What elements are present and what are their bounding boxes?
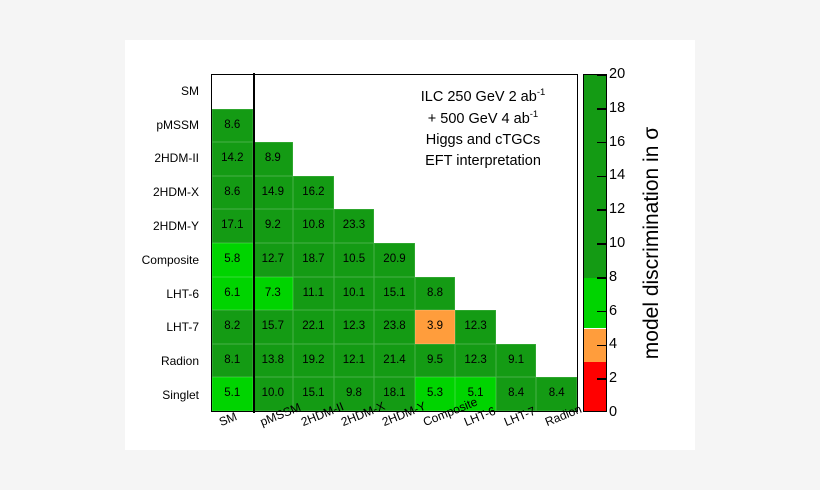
annotation-line-3: Higgs and cTGCs (383, 130, 583, 151)
colorbar-tick (597, 209, 606, 211)
heatmap-cell-empty (334, 109, 375, 143)
colorbar-tick-label: 0 (609, 404, 617, 420)
colorbar-tick-label: 2 (609, 370, 617, 386)
colorbar-tick (597, 311, 606, 313)
heatmap-cell-empty (455, 209, 496, 243)
sm-column-separator (253, 73, 256, 412)
heatmap-cell-empty (212, 75, 253, 109)
heatmap-cell: 21.4 (374, 344, 415, 378)
heatmap-cell: 8.6 (212, 176, 253, 210)
heatmap-cell-empty (496, 176, 537, 210)
figure-canvas: SMpMSSM2HDM-II2HDM-X2HDM-YCompositeLHT-6… (125, 40, 695, 450)
colorbar (583, 74, 607, 412)
heatmap-cell: 20.9 (374, 243, 415, 277)
colorbar-tick-label: 20 (609, 66, 625, 82)
heatmap-cell: 9.2 (253, 209, 294, 243)
colorbar-tick-label: 18 (609, 100, 625, 116)
colorbar-tick (597, 243, 606, 245)
heatmap-cell-empty (374, 176, 415, 210)
figure-root: SMpMSSM2HDM-II2HDM-X2HDM-YCompositeLHT-6… (0, 0, 820, 490)
heatmap-cell: 5.8 (212, 243, 253, 277)
heatmap-cell: 23.8 (374, 310, 415, 344)
heatmap-cell-empty (293, 142, 334, 176)
colorbar-tick (597, 378, 606, 380)
heatmap-cell: 19.2 (293, 344, 334, 378)
heatmap-cell: 5.1 (212, 377, 253, 411)
heatmap-cell-empty (536, 209, 577, 243)
y-axis-label-lht-7: LHT-7 (125, 311, 205, 345)
heatmap-cell-empty (415, 209, 456, 243)
y-axis-label-lht-6: LHT-6 (125, 277, 205, 311)
y-axis-label-radion: Radion (125, 344, 205, 378)
heatmap-cell: 18.7 (293, 243, 334, 277)
heatmap-cell: 12.1 (334, 344, 375, 378)
annotation-line-4: EFT interpretation (383, 151, 583, 172)
colorbar-title: model discrimination in σ (638, 74, 666, 412)
heatmap-cell-empty (293, 75, 334, 109)
heatmap-cell: 9.1 (496, 344, 537, 378)
heatmap-cell-empty (415, 243, 456, 277)
heatmap-cell-empty (334, 176, 375, 210)
colorbar-segment (584, 278, 606, 329)
y-axis-label-2hdm-y: 2HDM-Y (125, 209, 205, 243)
heatmap-cell: 9.5 (415, 344, 456, 378)
colorbar-tick (597, 142, 606, 144)
heatmap-cell-empty (496, 310, 537, 344)
heatmap-cell-empty (496, 243, 537, 277)
heatmap-cell-empty (496, 209, 537, 243)
heatmap-cell-empty (253, 75, 294, 109)
heatmap-cell: 16.2 (293, 176, 334, 210)
heatmap-cell: 8.6 (212, 109, 253, 143)
heatmap-cell-empty (334, 75, 375, 109)
annotation-block: ILC 250 GeV 2 ab-1 + 500 GeV 4 ab-1 Higg… (383, 86, 583, 172)
heatmap-cell-empty (496, 277, 537, 311)
colorbar-tick (597, 176, 606, 178)
heatmap-cell: 8.9 (253, 142, 294, 176)
y-axis-label-singlet: Singlet (125, 378, 205, 412)
colorbar-tick-label: 4 (609, 336, 617, 352)
heatmap-cell-empty (455, 176, 496, 210)
colorbar-tick-label: 12 (609, 201, 625, 217)
heatmap-cell-empty (455, 243, 496, 277)
colorbar-tick-label: 14 (609, 167, 625, 183)
heatmap-cell-empty (536, 310, 577, 344)
heatmap-cell-empty (536, 243, 577, 277)
colorbar-segment (584, 362, 606, 412)
colorbar-tick-label: 8 (609, 269, 617, 285)
y-axis-label-2hdm-x: 2HDM-X (125, 175, 205, 209)
heatmap-cell: 23.3 (334, 209, 375, 243)
heatmap-cell-empty (374, 209, 415, 243)
heatmap-cell: 10.8 (293, 209, 334, 243)
colorbar-tick (597, 108, 606, 110)
y-axis-label-2hdm-ii: 2HDM-II (125, 142, 205, 176)
heatmap-cell: 8.2 (212, 310, 253, 344)
heatmap-cell: 15.1 (374, 277, 415, 311)
heatmap-cell: 10.1 (334, 277, 375, 311)
colorbar-tick-label: 16 (609, 134, 625, 150)
colorbar-tick-label: 10 (609, 235, 625, 251)
heatmap-cell-empty (536, 277, 577, 311)
y-axis-label-pmssm: pMSSM (125, 108, 205, 142)
y-axis-label-composite: Composite (125, 243, 205, 277)
heatmap-cell: 8.8 (415, 277, 456, 311)
heatmap-cell: 10.5 (334, 243, 375, 277)
heatmap-cell-empty (536, 344, 577, 378)
heatmap-cell: 15.7 (253, 310, 294, 344)
colorbar-tick-label: 6 (609, 303, 617, 319)
heatmap-cell-empty (253, 109, 294, 143)
heatmap-cell: 7.3 (253, 277, 294, 311)
heatmap-cell: 22.1 (293, 310, 334, 344)
x-axis-label-sm: SM (217, 409, 239, 429)
x-axis-labels: SMpMSSM2HDM-II2HDM-X2HDM-YCompositeLHT-6… (211, 412, 578, 472)
heatmap-cell-empty (293, 109, 334, 143)
heatmap-cell: 14.9 (253, 176, 294, 210)
heatmap-cell: 8.1 (212, 344, 253, 378)
heatmap-cell: 17.1 (212, 209, 253, 243)
annotation-line-1: ILC 250 GeV 2 ab-1 (383, 86, 583, 108)
heatmap-cell: 3.9 (415, 310, 456, 344)
y-axis-label-sm: SM (125, 74, 205, 108)
colorbar-tick (597, 345, 606, 347)
colorbar-tick (597, 74, 606, 76)
heatmap-cell: 13.8 (253, 344, 294, 378)
heatmap-cell-empty (334, 142, 375, 176)
heatmap-cell-empty (536, 176, 577, 210)
heatmap-cell: 12.3 (455, 344, 496, 378)
heatmap-cell: 12.3 (455, 310, 496, 344)
annotation-line-2: + 500 GeV 4 ab-1 (383, 108, 583, 130)
y-axis-labels: SMpMSSM2HDM-II2HDM-X2HDM-YCompositeLHT-6… (125, 74, 205, 412)
heatmap-cell: 12.7 (253, 243, 294, 277)
heatmap-cell: 14.2 (212, 142, 253, 176)
heatmap-cell: 12.3 (334, 310, 375, 344)
heatmap-cell-empty (415, 176, 456, 210)
heatmap-cell-empty (455, 277, 496, 311)
heatmap-cell: 6.1 (212, 277, 253, 311)
colorbar-tick (597, 277, 606, 279)
heatmap-cell: 11.1 (293, 277, 334, 311)
